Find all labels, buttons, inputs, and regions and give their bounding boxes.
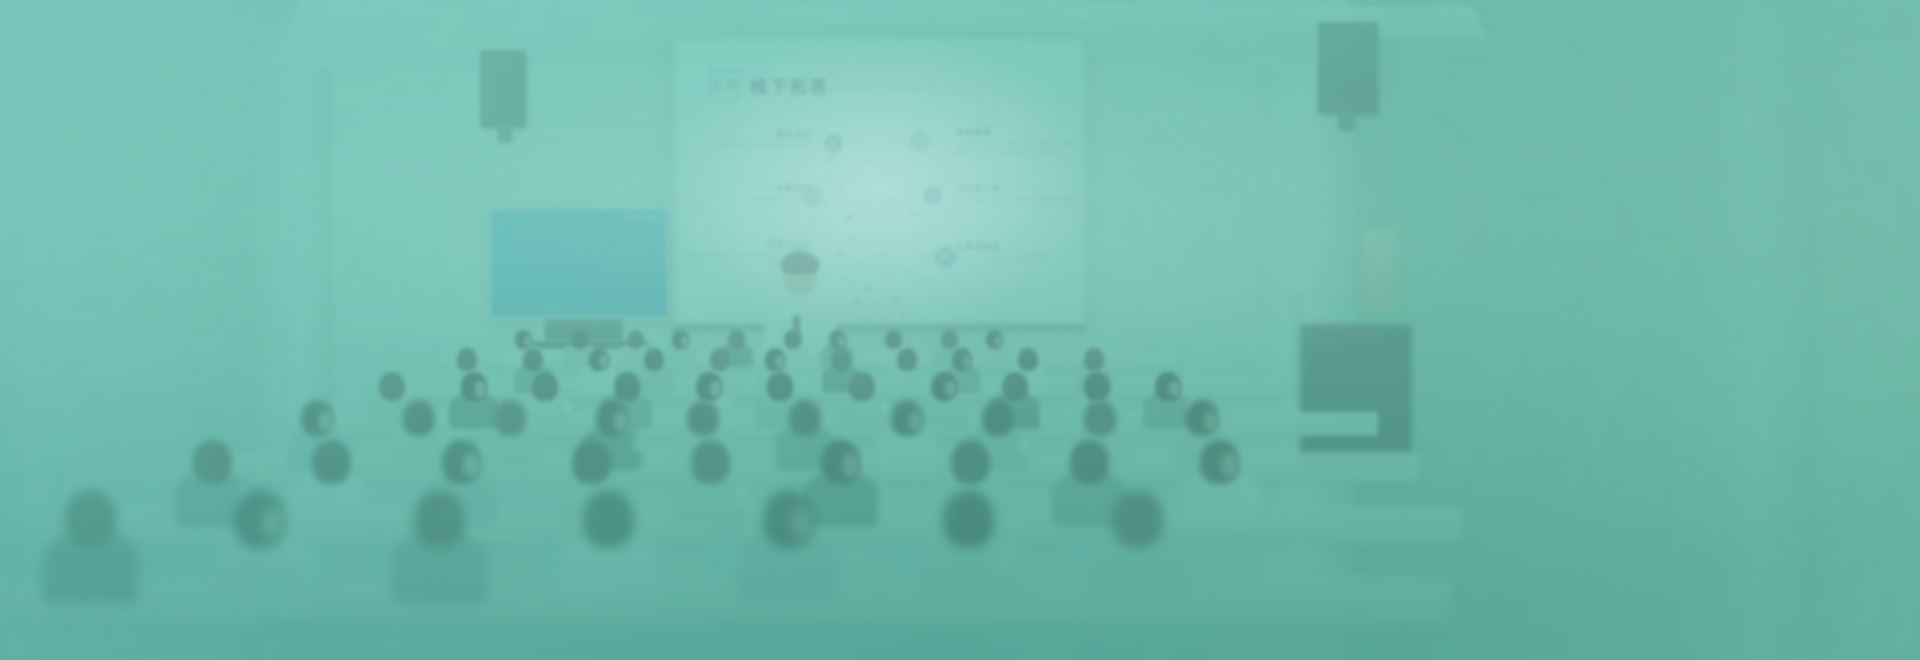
overlay-gradient xyxy=(0,0,1920,660)
hero-banner: 1.0 线下拓客 OFFLINE CUSTOMER EXPANSION 团队合作… xyxy=(0,0,1920,660)
